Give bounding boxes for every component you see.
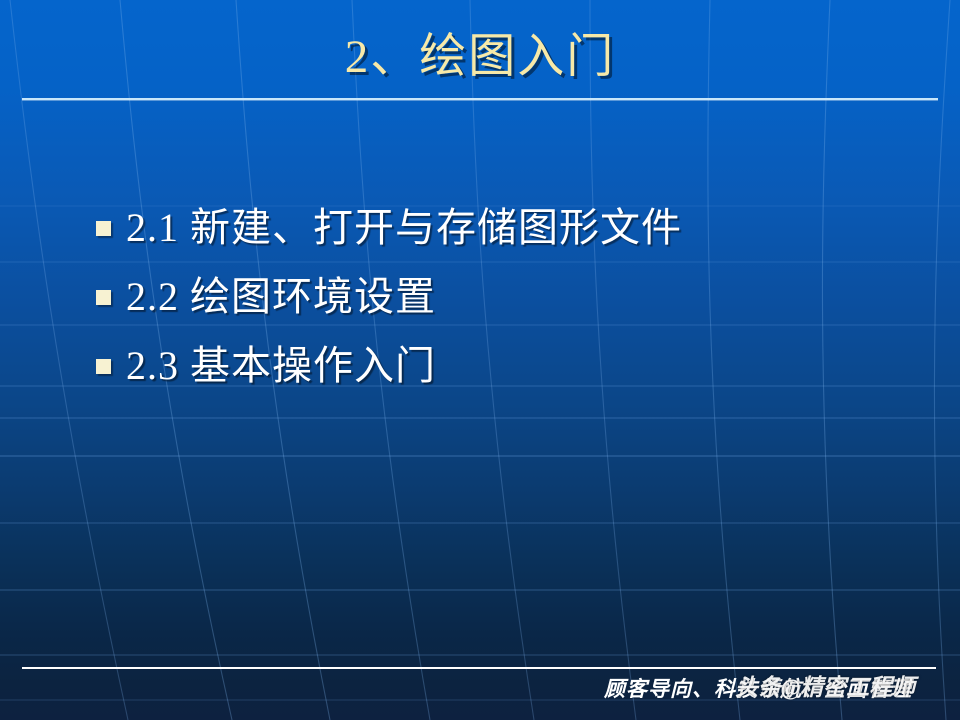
- square-bullet-icon: [96, 221, 111, 236]
- list-item-label: 2.2 绘图环境设置: [126, 273, 436, 321]
- title-divider: [22, 98, 938, 100]
- page-title: 2、绘图入门: [0, 30, 960, 84]
- list-item[interactable]: 2.1 新建、打开与存储图形文件: [96, 196, 916, 260]
- watermark-text: 头条@精密工程师: [735, 672, 915, 704]
- list-item[interactable]: 2.3 基本操作入门: [96, 334, 916, 398]
- title-band: 2、绘图入门: [0, 0, 960, 100]
- square-bullet-icon: [96, 290, 111, 305]
- list-item-label: 2.1 新建、打开与存储图形文件: [126, 204, 682, 252]
- presentation-slide: 2、绘图入门 2.1 新建、打开与存储图形文件 2.2 绘图环境设置 2.3 基…: [0, 0, 960, 720]
- list-item[interactable]: 2.2 绘图环境设置: [96, 265, 916, 329]
- square-bullet-icon: [96, 359, 111, 374]
- footer-divider: [22, 667, 936, 669]
- list-item-label: 2.3 基本操作入门: [126, 342, 436, 390]
- bullet-list: 2.1 新建、打开与存储图形文件 2.2 绘图环境设置 2.3 基本操作入门: [96, 196, 916, 403]
